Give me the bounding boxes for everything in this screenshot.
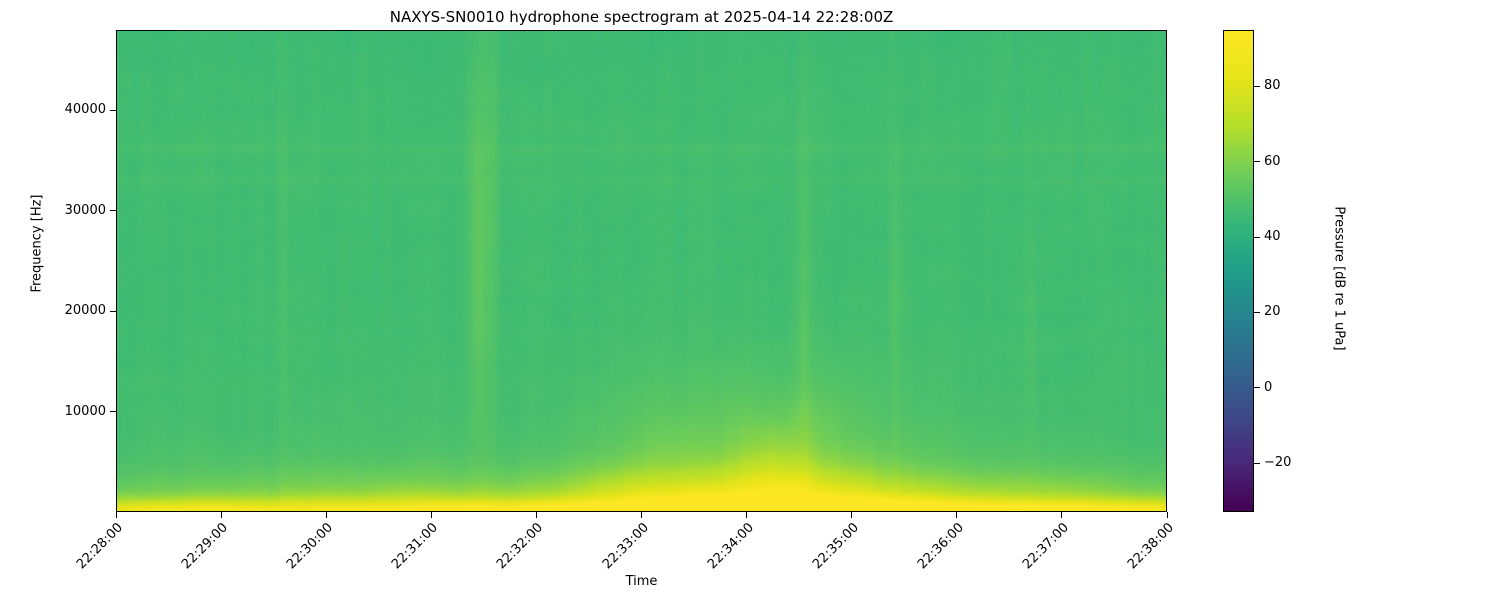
spectrogram-plot[interactable] — [116, 30, 1167, 512]
x-axis-label: Time — [116, 574, 1167, 589]
x-axis-tick-label: 22:29:00 — [177, 521, 231, 575]
x-axis-tick-mark — [326, 512, 327, 518]
colorbar-tick-label: 20 — [1264, 305, 1281, 318]
x-axis-tick-label: 22:31:00 — [387, 521, 441, 575]
y-axis-tick-label: 30000 — [65, 204, 106, 217]
y-axis-tick-label: 10000 — [65, 405, 106, 418]
colorbar-tick-label: 40 — [1264, 230, 1281, 243]
colorbar-tick-mark — [1254, 161, 1260, 162]
x-axis-tick-mark — [431, 512, 432, 518]
x-axis-tick-label: 22:34:00 — [703, 521, 757, 575]
x-axis-tick-mark — [746, 512, 747, 518]
colorbar-tick-mark — [1254, 463, 1260, 464]
x-axis-tick-label: 22:36:00 — [913, 521, 967, 575]
page-title: NAXYS-SN0010 hydrophone spectrogram at 2… — [116, 8, 1167, 26]
x-axis-tick-mark — [641, 512, 642, 518]
spectrogram-image — [117, 31, 1166, 511]
y-axis-tick-mark — [110, 311, 116, 312]
x-axis-tick-mark — [116, 512, 117, 518]
x-axis-tick-mark — [851, 512, 852, 518]
y-axis-tick-label: 40000 — [65, 103, 106, 116]
x-axis-tick-mark — [956, 512, 957, 518]
x-axis-tick-mark — [1167, 512, 1168, 518]
x-axis-tick-label: 22:33:00 — [598, 521, 652, 575]
colorbar-label: Pressure [dB re 1 uPa] — [1332, 169, 1347, 389]
colorbar-tick-mark — [1254, 312, 1260, 313]
colorbar-tick-mark — [1254, 237, 1260, 238]
y-axis-tick-label: 20000 — [65, 304, 106, 317]
colorbar-gradient — [1224, 31, 1253, 511]
colorbar-tick-label: 0 — [1264, 381, 1272, 394]
colorbar-tick-label: 80 — [1264, 79, 1281, 92]
y-axis-tick-mark — [110, 110, 116, 111]
y-axis-label: Frequency [Hz] — [30, 164, 45, 324]
y-axis-tick-mark — [110, 210, 116, 211]
colorbar[interactable] — [1223, 30, 1254, 512]
x-axis-tick-label: 22:38:00 — [1123, 521, 1177, 575]
spectrogram-figure: NAXYS-SN0010 hydrophone spectrogram at 2… — [0, 0, 1500, 600]
colorbar-tick-label: −20 — [1264, 456, 1291, 469]
x-axis-tick-label: 22:28:00 — [72, 521, 126, 575]
x-axis-tick-label: 22:37:00 — [1018, 521, 1072, 575]
x-axis-tick-mark — [1061, 512, 1062, 518]
x-axis-tick-label: 22:30:00 — [282, 521, 336, 575]
colorbar-tick-label: 60 — [1264, 155, 1281, 168]
x-axis-tick-mark — [536, 512, 537, 518]
x-axis-tick-mark — [221, 512, 222, 518]
x-axis-tick-label: 22:35:00 — [808, 521, 862, 575]
colorbar-tick-mark — [1254, 387, 1260, 388]
colorbar-tick-mark — [1254, 86, 1260, 87]
x-axis-tick-label: 22:32:00 — [493, 521, 547, 575]
y-axis-tick-mark — [110, 411, 116, 412]
